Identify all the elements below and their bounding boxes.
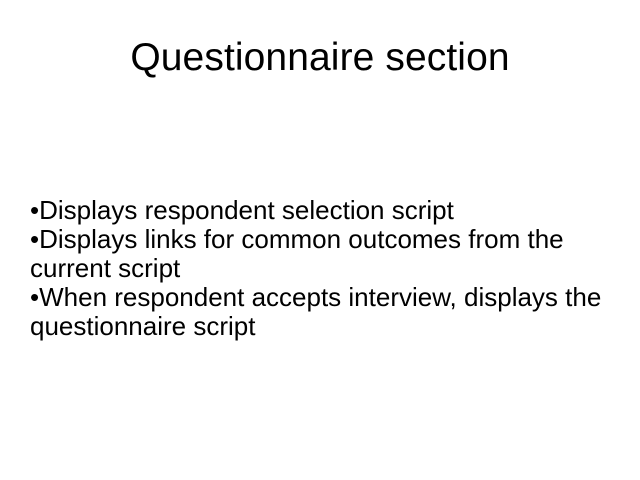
page-title: Questionnaire section (0, 36, 640, 80)
slide-body-text: •Displays respondent selection script •D… (30, 196, 610, 341)
slide-canvas: Questionnaire section •Displays responde… (0, 0, 640, 480)
bullet-item-2: •Displays links for common outcomes from… (30, 225, 610, 283)
bullet-item-1: •Displays respondent selection script (30, 196, 610, 225)
bullet-item-3: •When respondent accepts interview, disp… (30, 283, 610, 341)
